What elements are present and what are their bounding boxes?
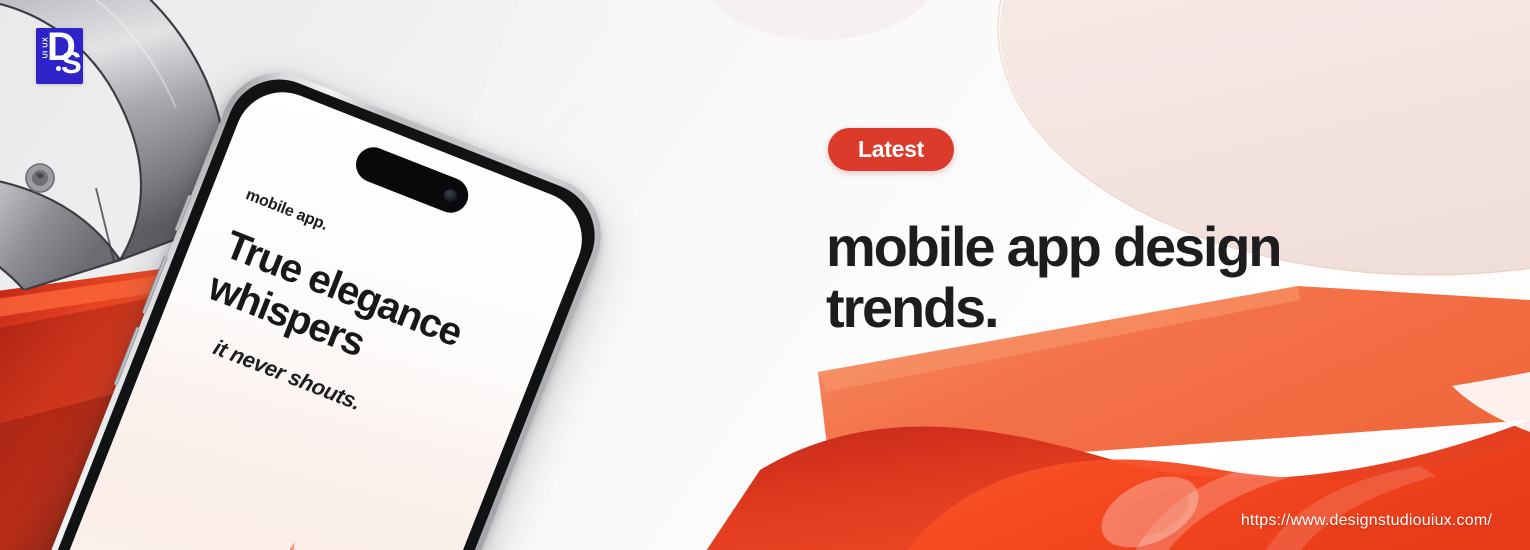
phone-screen-label: mobile app. xyxy=(243,186,330,235)
brand-logo[interactable]: UI UX D S xyxy=(36,28,83,84)
front-camera-icon xyxy=(442,187,459,204)
page-title: mobile app design trends. xyxy=(826,216,1446,338)
logo-letter-s: S xyxy=(61,47,82,78)
latest-badge[interactable]: Latest xyxy=(828,128,954,171)
website-url[interactable]: https://www.designstudiouiux.com/ xyxy=(1241,512,1492,530)
promo-banner: UI UX D S xyxy=(0,0,1530,550)
dynamic-island xyxy=(351,142,474,218)
phone-screen-headline: True elegance whispers xyxy=(202,223,542,427)
